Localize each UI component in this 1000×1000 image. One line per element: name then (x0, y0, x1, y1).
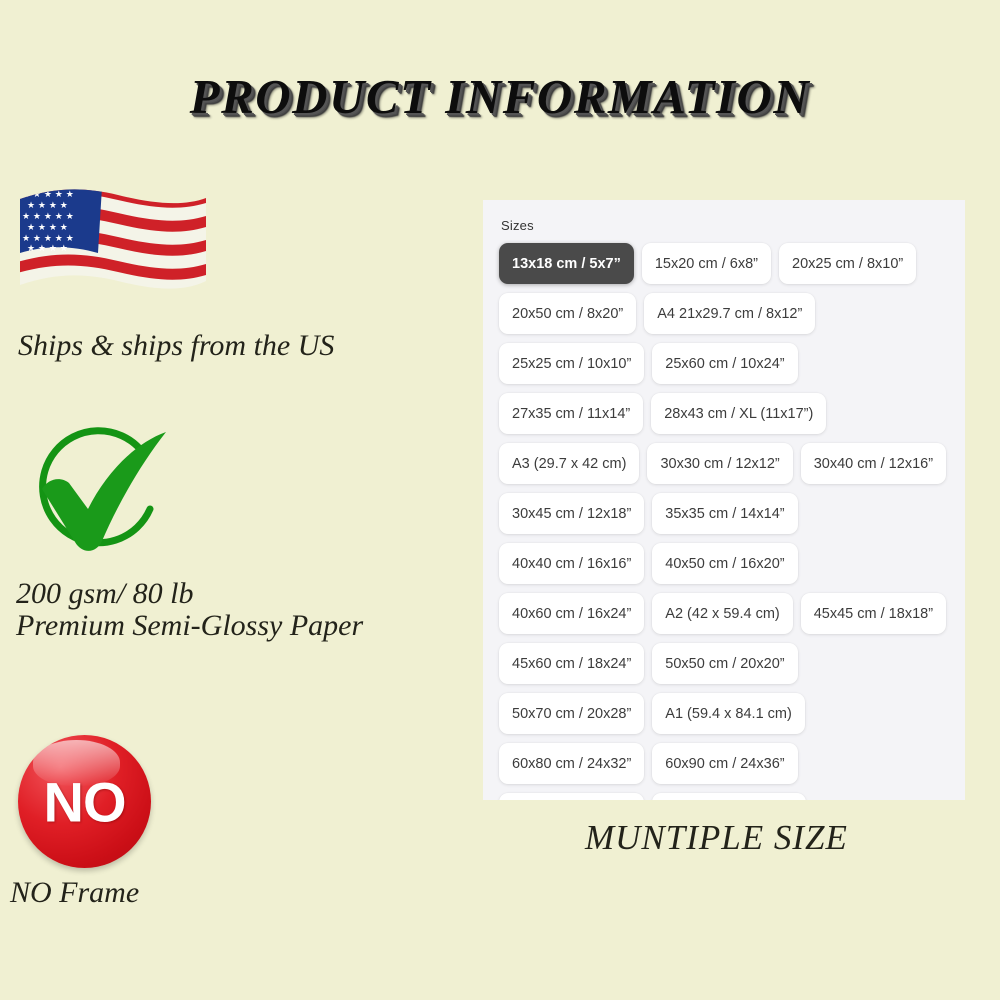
sizes-label: Sizes (501, 218, 949, 233)
size-option-chip[interactable]: 25x25 cm / 10x10” (499, 343, 644, 384)
size-option-chip[interactable]: A4 21x29.7 cm / 8x12” (644, 293, 815, 334)
size-option-chip[interactable]: 30x40 cm / 12x16” (801, 443, 946, 484)
svg-text:★ ★ ★ ★: ★ ★ ★ ★ (27, 223, 68, 233)
size-option-chip[interactable]: 13x18 cm / 5x7” (499, 243, 634, 284)
size-option-chip[interactable]: 45x45 cm / 18x18” (801, 593, 946, 634)
size-option-chip[interactable]: 30x45 cm / 12x18” (499, 493, 644, 534)
sizes-panel: Sizes 13x18 cm / 5x7”15x20 cm / 6x8”20x2… (483, 200, 965, 800)
size-option-chip[interactable]: 60x80 cm / 24x32” (499, 743, 644, 784)
size-option-chip[interactable]: 50x70 cm / 20x28” (499, 693, 644, 734)
multiple-size-caption: MUNTIPLE SIZE (585, 818, 848, 858)
size-option-chip[interactable]: 20x25 cm / 8x10” (779, 243, 916, 284)
size-option-chip[interactable]: 40x40 cm / 16x16” (499, 543, 644, 584)
paper-weight-line: 200 gsm/ 80 lb (16, 578, 363, 610)
no-badge-label: NO (18, 769, 151, 834)
size-option-chip[interactable]: 50x50 cm / 20x20” (652, 643, 797, 684)
no-badge-circle: NO (18, 735, 151, 868)
size-option-chip[interactable]: 70x70 cm / 28x28” (499, 793, 644, 800)
size-option-chip[interactable]: A3 (29.7 x 42 cm) (499, 443, 639, 484)
svg-text:★ ★ ★ ★: ★ ★ ★ ★ (27, 201, 68, 211)
svg-text:★ ★ ★ ★: ★ ★ ★ ★ (27, 244, 68, 254)
size-option-chip[interactable]: 20x50 cm / 8x20” (499, 293, 636, 334)
svg-text:★ ★ ★ ★ ★: ★ ★ ★ ★ ★ (22, 212, 74, 222)
no-badge-icon: NO (18, 735, 156, 868)
paper-type-line: Premium Semi-Glossy Paper (16, 610, 363, 642)
size-option-chip[interactable]: 15x20 cm / 6x8” (642, 243, 771, 284)
size-option-chip[interactable]: 40x60 cm / 16x24” (499, 593, 644, 634)
paper-quality-caption: 200 gsm/ 80 lb Premium Semi-Glossy Paper (16, 578, 363, 643)
svg-text:★ ★ ★ ★ ★: ★ ★ ★ ★ ★ (22, 234, 74, 244)
no-frame-caption: NO Frame (10, 877, 139, 909)
size-option-chip[interactable]: 25x60 cm / 10x24” (652, 343, 797, 384)
size-option-chip[interactable]: 60x90 cm / 24x36” (652, 743, 797, 784)
size-option-chip[interactable]: 40x50 cm / 16x20” (652, 543, 797, 584)
ships-from-us-caption: Ships & ships from the US (18, 330, 334, 362)
size-option-chip[interactable]: 27x35 cm / 11x14” (499, 393, 643, 434)
size-options-list: 13x18 cm / 5x7”15x20 cm / 6x8”20x25 cm /… (499, 243, 949, 800)
size-option-chip[interactable]: 70x100 cm / 28x40” (652, 793, 805, 800)
size-option-chip[interactable]: 45x60 cm / 18x24” (499, 643, 644, 684)
size-option-chip[interactable]: A2 (42 x 59.4 cm) (652, 593, 792, 634)
size-option-chip[interactable]: A1 (59.4 x 84.1 cm) (652, 693, 805, 734)
size-option-chip[interactable]: 35x35 cm / 14x14” (652, 493, 797, 534)
size-option-chip[interactable]: 30x30 cm / 12x12” (647, 443, 792, 484)
product-information-page: PRODUCT INFORMATION (0, 0, 1000, 1000)
size-option-chip[interactable]: 28x43 cm / XL (11x17”) (651, 393, 826, 434)
page-title: PRODUCT INFORMATION (0, 68, 1000, 125)
green-checkmark-icon (14, 423, 179, 565)
us-flag-icon: ★ ★ ★ ★ ★ ★ ★ ★ ★ ★ ★ ★ ★ ★ ★ ★ ★ ★ ★ ★ … (14, 185, 212, 305)
svg-text:★ ★ ★ ★ ★: ★ ★ ★ ★ ★ (22, 190, 74, 200)
